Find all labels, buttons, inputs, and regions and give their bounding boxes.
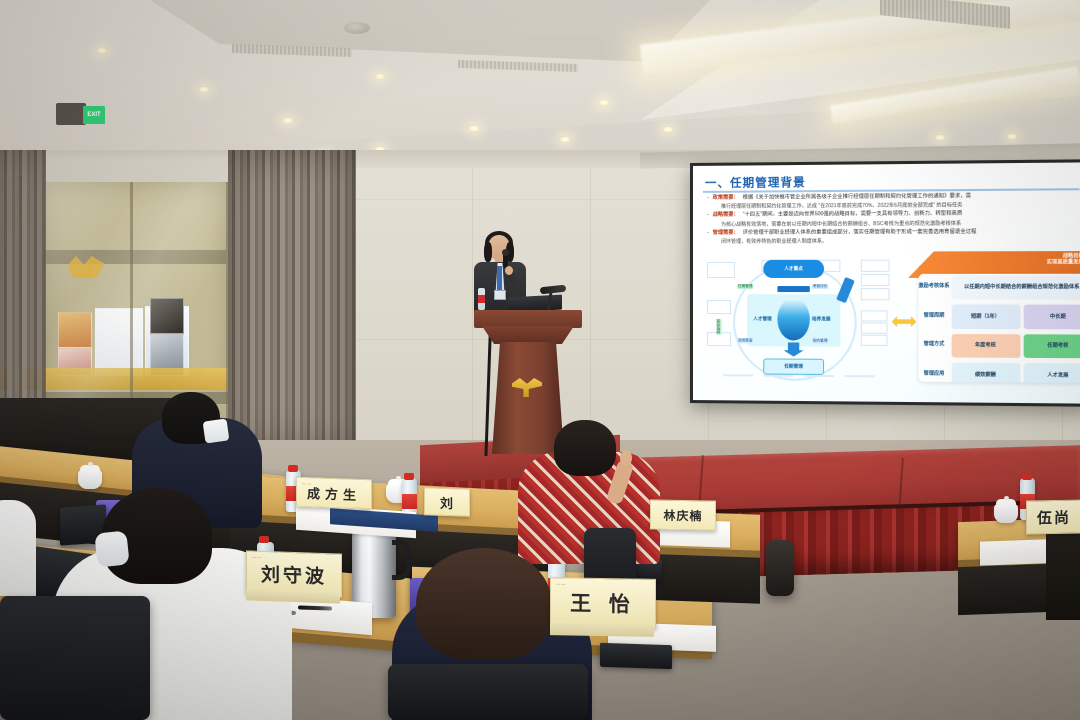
downlight [198,86,210,93]
curtain-center [228,150,356,450]
downlight [598,99,610,106]
diagram-footer-line [844,375,875,377]
diagram-footer-line [763,375,793,377]
bullet-label: 政策需要： [713,195,739,202]
diagram-node-top: 人才重点 [763,260,824,278]
bullet-dash-icon: - [707,230,709,237]
diagram-node-right: 培养发展 [812,316,831,322]
speaker-badge [494,290,506,300]
nameplate-logo-mark: — — [302,481,311,486]
nameplate-logo-mark: — — [252,555,261,560]
banner-line-2: 实现高质量发展 [927,260,1080,267]
microphone-head-icon [502,249,509,256]
nameplate-base [550,623,654,637]
exit-sign-label: EXIT [87,112,100,118]
bottle-label [402,494,417,509]
tea-cup [994,504,1018,523]
chair [766,540,794,596]
nameplate-label: 成方生 [307,483,361,504]
nameplate-label: 刘守波 [261,559,327,588]
exit-sign-icon: EXIT [83,106,105,124]
table-row: 管理应用 绩效薪酬 人才发展 [918,361,1080,383]
nameplate: — — 王 怡 [550,577,656,629]
projection-screen: 一、任期管理背景 - 政策需要： 根据《关于加快推市管企业所属各级子企业推行经理… [690,159,1080,407]
bullet-text: 根据《关于加快推市管企业所属各级子企业推行经理层任期制和契约化管理工作的通知》要… [743,193,971,201]
nameplate: 林庆楠 [650,499,716,530]
diagram-ghost-box [861,260,890,272]
chair [0,596,150,720]
downlight [96,47,108,54]
table-cell: 年度考核 [951,334,1020,358]
bullet-text: 评价管理干部职业经理人体系的重要组成部分，落实任期管理有助于形成一套完善选用育留… [743,229,977,237]
conference-room-photo: EXIT 一、任期管理背景 - 政策需要： 根据《关于加快推市管企业所属各级子企… [0,0,1080,720]
attendee-center-head [554,420,616,476]
downlight [559,136,571,143]
diagram-top-bar [777,286,809,292]
table-row-header: 管理周期 [918,303,949,330]
downlight [468,125,480,132]
nameplate-label: 刘 [440,492,454,511]
downlight [934,134,946,141]
nameplate: 刘 [424,487,470,517]
table-row: 管理周期 短期（1年） 中长期 [918,303,1080,333]
tea-cup [78,470,102,489]
slide-bullet-list: - 政策需要： 根据《关于加快推市管企业所属各级子企业推行经理层任期制和契约化管… [707,192,1080,247]
laptop-closed [600,643,672,670]
table-row: 激励考核体系 以任期内短中长期结合的薪酬组合规范化激励体系 [918,274,1080,303]
diagram-tag: 选用育留 [737,338,753,343]
tea-cup-knob [88,462,93,466]
table-cell: 绩效薪酬 [951,363,1020,383]
downlight [1006,133,1018,140]
nameplate-label: 王 怡 [570,587,636,618]
diagram-node-left: 人才管理 [753,316,772,322]
diagram-node-bottom: 任期管理 [763,358,824,375]
bottle-cap [288,465,298,472]
podium-column [492,342,564,454]
diagram-tag: 任期管理 [737,284,753,289]
bullet-subtext: 闭环管理，有效养特色的职业经理人制度体系。 [707,237,1080,245]
downlight [662,126,674,133]
tea-cup-knob [1004,496,1009,500]
tea-cup-knob [396,476,401,480]
bidirectional-arrow-icon [892,314,917,328]
bullet-subtext: 为核心战略有效落地，需要在前以任期内短中长期结合的薪酬组合、BSC考核为重点的规… [707,219,1080,228]
diagram-footer-line [723,374,753,376]
podium-top [474,310,582,328]
downlight [374,73,386,80]
nameplate-label: 伍尚 [1037,506,1071,528]
diagram-ghost-box [861,288,890,300]
face-mask [203,418,230,443]
bottle-cap [1022,473,1032,480]
bullet-dash-icon: - [707,195,709,202]
table-row-header: 管理方式 [918,332,949,359]
slide-title: 一、任期管理背景 [705,174,806,191]
podium-bevel [482,326,574,344]
bullet-label: 管理需要： [713,230,739,237]
exit-sign-housing [56,103,86,125]
downlight [282,117,294,124]
slide-comparison-table: 激励考核体系 以任期内短中长期结合的薪酬组合规范化激励体系 管理周期 短期（1年… [918,274,1080,383]
diagram-ghost-box [861,310,888,321]
bullet-label: 战略需要： [713,212,739,219]
diagram-ghost-box [707,262,735,278]
bullet-text: "十四五"期间，主要是迈向世界500强的战略目标，需要一支具有领导力、创新力、转… [743,211,963,219]
diagram-ghost-box [861,274,890,286]
slide-bullet: - 战略需要： "十四五"期间，主要是迈向世界500强的战略目标，需要一支具有领… [707,210,1080,219]
bottle-cap [259,536,269,543]
table-row-header: 激励考核体系 [918,274,949,301]
bullet-subtext: 推行经理层任期制和契约化管理工作，达成 "在2021年底前完成70%、2022年… [707,201,1080,210]
speaker-lanyard [497,266,502,292]
presentation-slide: 一、任期管理背景 - 政策需要： 根据《关于加快推市管企业所属各级子企业推行经理… [693,162,1080,403]
diagram-core-oval [777,298,809,340]
slide-bullet: - 管理需要： 评价管理干部职业经理人体系的重要组成部分，落实任期管理有助于形成… [707,228,1080,236]
table-cell: 中长期 [1023,305,1080,329]
diagram-tag: 考核评价 [812,284,829,289]
table-cell: 人才发展 [1023,363,1080,383]
nameplate: — — 成方生 [296,477,372,510]
nameplate: 伍尚 [1026,500,1080,535]
diagram-footer-line [804,375,835,377]
nameplate-label: 林庆楠 [663,506,702,524]
diagram-ghost-box [861,323,888,334]
bullet-dash-icon: - [707,212,709,219]
table-row-header: 管理应用 [918,361,949,383]
attendee-front-center-hair [416,548,552,660]
slide-cycle-diagram: 人才重点 人才管理 培养发展 任期管理 任期管理 考核评价 激励机制 选用育留 … [707,258,890,384]
chair [388,664,588,720]
table-cell: 以任期内短中长期结合的薪酬组合规范化激励体系 [951,275,1080,299]
table-cell: 任期考核 [1023,334,1080,359]
table-row: 管理方式 年度考核 任期考核 [918,332,1080,362]
bottle-cap [404,473,414,480]
diagram-tag: 激励机制 [717,318,722,334]
diagram-ghost-box [861,335,888,346]
table-cell: 短期（1年） [951,304,1020,328]
speaker-hand [505,266,513,275]
thermos-handle [392,540,411,580]
attendee-far-left-torso [0,500,36,596]
diagram-ghost-box [707,300,731,314]
ceiling-speaker [344,22,370,34]
diagram-tag: 契约管理 [812,339,829,344]
speaker-hair-side [484,242,492,262]
face-mask [94,530,129,567]
attendee-center-hand [620,450,632,466]
slide-banner-text: 战略目标 实现高质量发展 [927,253,1080,266]
podium-bottle-label [478,295,485,303]
nameplate-logo-mark: — — [556,581,565,586]
